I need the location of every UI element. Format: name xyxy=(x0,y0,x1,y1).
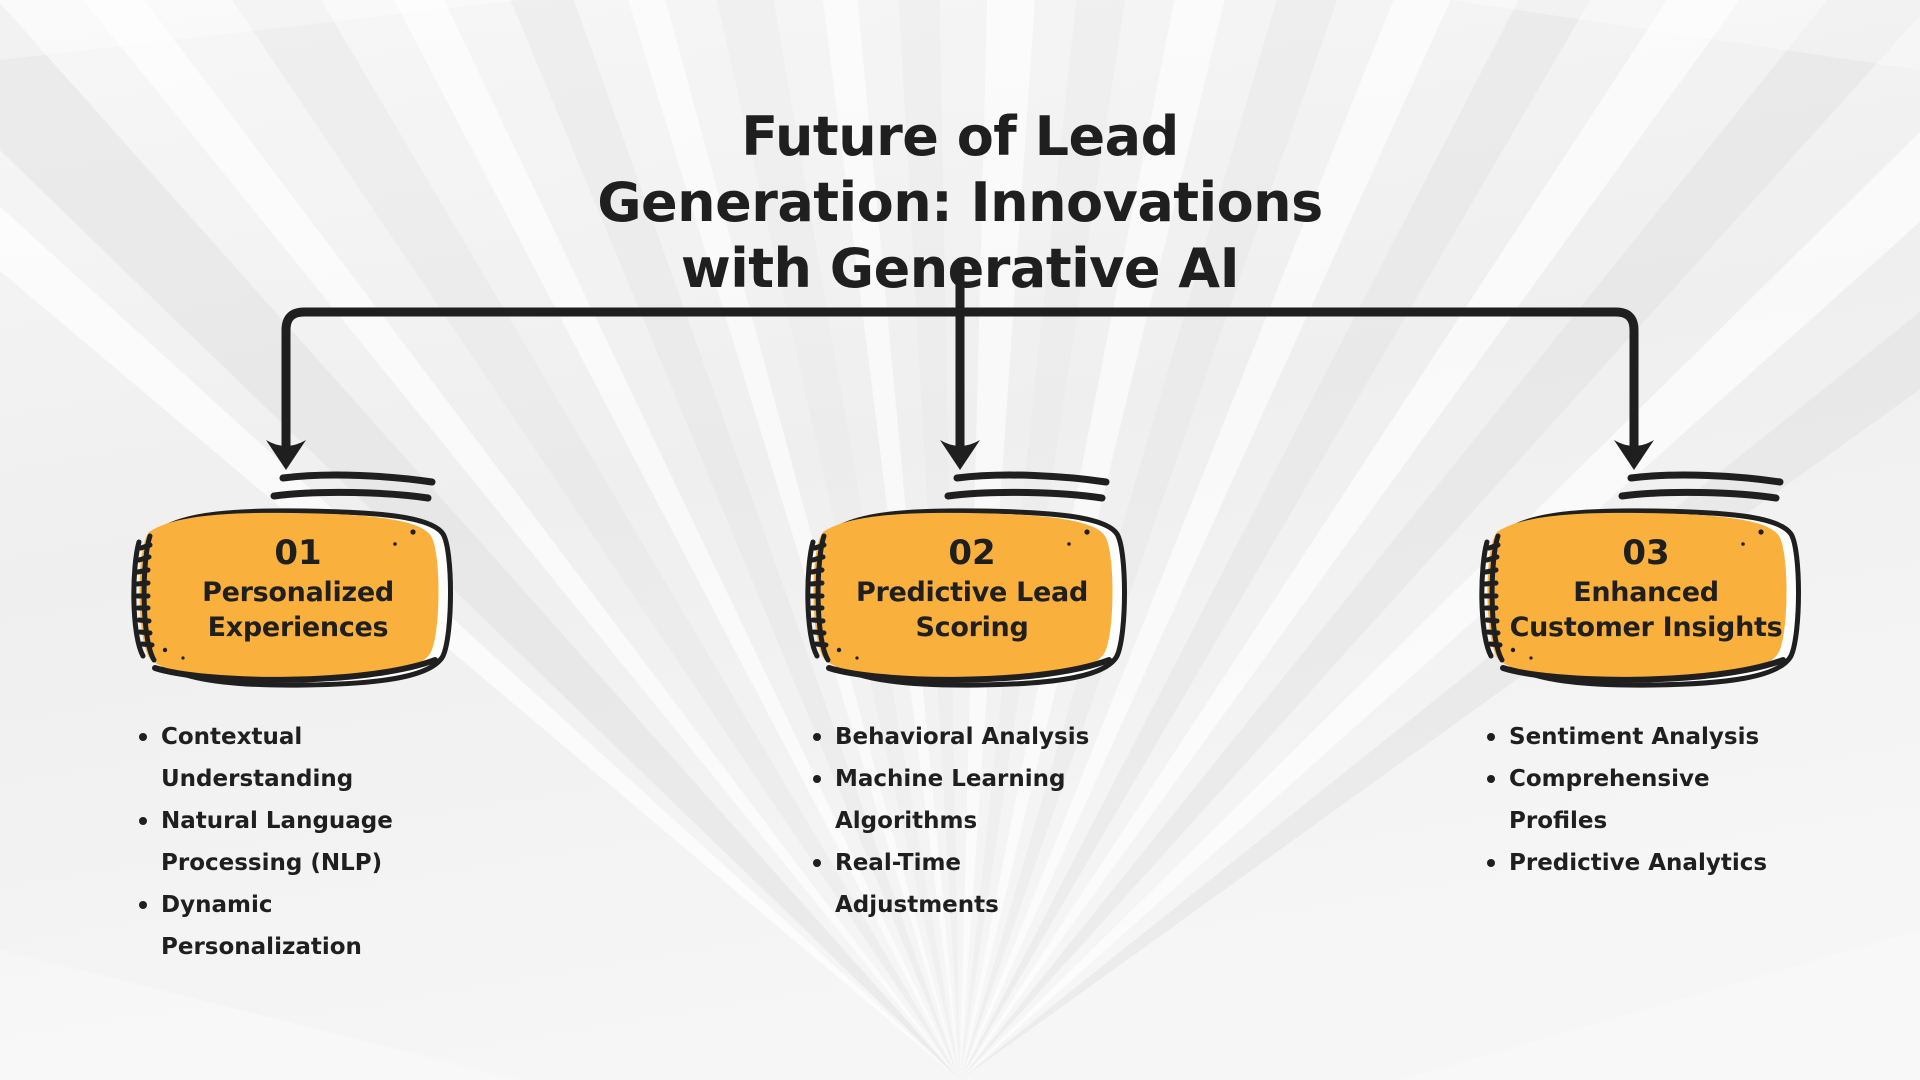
bullet-list-03-items: Sentiment Analysis Comprehensive Profile… xyxy=(1473,716,1803,884)
list-item: Machine Learning Algorithms xyxy=(799,758,1129,842)
list-item-label: Dynamic Personalization xyxy=(161,892,362,960)
card-01-title-line2: Experiences xyxy=(159,611,437,644)
bullet-list-02-items: Behavioral Analysis Machine Learning Alg… xyxy=(799,716,1129,926)
list-item: Behavioral Analysis xyxy=(799,716,1129,758)
list-item-label: Machine Learning Algorithms xyxy=(835,766,1066,834)
sketch-line-3b xyxy=(1622,492,1776,498)
list-item-label: Sentiment Analysis xyxy=(1509,724,1759,750)
card-03[interactable]: 03 Enhanced Customer Insights xyxy=(1473,508,1803,688)
list-item: Dynamic Personalization xyxy=(125,884,455,968)
card-03-number: 03 xyxy=(1507,532,1785,574)
connector-arrowheads xyxy=(266,440,1654,470)
list-item: Sentiment Analysis xyxy=(1473,716,1803,758)
page-title: Future of Lead Generation: Innovations w… xyxy=(0,104,1920,302)
page-title-line-3: with Generative AI xyxy=(0,236,1920,302)
sketch-lines xyxy=(274,475,1780,498)
connector-bracket xyxy=(286,312,1634,384)
bullet-dot-icon xyxy=(139,733,147,741)
arrowhead-3 xyxy=(1614,440,1654,470)
card-02-title-line1: Predictive Lead xyxy=(833,576,1111,609)
arrowhead-2 xyxy=(940,440,980,470)
card-02-text: 02 Predictive Lead Scoring xyxy=(833,532,1111,644)
list-item-label: Natural Language Processing (NLP) xyxy=(161,808,393,876)
sketch-line-1a xyxy=(283,475,432,482)
card-02-title-line2: Scoring xyxy=(833,611,1111,644)
bullet-list-03: Sentiment Analysis Comprehensive Profile… xyxy=(1473,716,1803,884)
list-item: Natural Language Processing (NLP) xyxy=(125,800,455,884)
bullet-dot-icon xyxy=(1487,859,1495,867)
sketch-line-2a xyxy=(957,475,1106,482)
bullet-dot-icon xyxy=(813,859,821,867)
card-03-title-line1: Enhanced xyxy=(1507,576,1785,609)
bullet-dot-icon xyxy=(1487,733,1495,741)
bullet-list-01-items: Contextual Understanding Natural Languag… xyxy=(125,716,455,968)
card-01[interactable]: 01 Personalized Experiences xyxy=(125,508,455,688)
list-item: Predictive Analytics xyxy=(1473,842,1803,884)
card-03-title-line2: Customer Insights xyxy=(1507,611,1785,644)
list-item: Comprehensive Profiles xyxy=(1473,758,1803,842)
card-02-number: 02 xyxy=(833,532,1111,574)
card-01-number: 01 xyxy=(159,532,437,574)
sketch-line-2b xyxy=(948,492,1102,498)
card-03-text: 03 Enhanced Customer Insights xyxy=(1507,532,1785,644)
bullet-dot-icon xyxy=(813,775,821,783)
list-item-label: Predictive Analytics xyxy=(1509,850,1767,876)
list-item-label: Contextual Understanding xyxy=(161,724,353,792)
page-title-line-2: Generation: Innovations xyxy=(0,170,1920,236)
bullet-dot-icon xyxy=(813,733,821,741)
bullet-list-01: Contextual Understanding Natural Languag… xyxy=(125,716,455,968)
card-01-title-line1: Personalized xyxy=(159,576,437,609)
sketch-line-3a xyxy=(1631,475,1780,482)
bullet-list-02: Behavioral Analysis Machine Learning Alg… xyxy=(799,716,1129,926)
bullet-dot-icon xyxy=(139,901,147,909)
bullet-dot-icon xyxy=(1487,775,1495,783)
card-02[interactable]: 02 Predictive Lead Scoring xyxy=(799,508,1129,688)
sketch-line-1b xyxy=(274,492,428,498)
list-item: Contextual Understanding xyxy=(125,716,455,800)
arrowhead-1 xyxy=(266,440,306,470)
list-item-label: Behavioral Analysis xyxy=(835,724,1089,750)
list-item: Real-Time Adjustments xyxy=(799,842,1129,926)
list-item-label: Real-Time Adjustments xyxy=(835,850,999,918)
list-item-label: Comprehensive Profiles xyxy=(1509,766,1710,834)
page-title-line-1: Future of Lead xyxy=(0,104,1920,170)
card-01-text: 01 Personalized Experiences xyxy=(159,532,437,644)
bullet-dot-icon xyxy=(139,817,147,825)
